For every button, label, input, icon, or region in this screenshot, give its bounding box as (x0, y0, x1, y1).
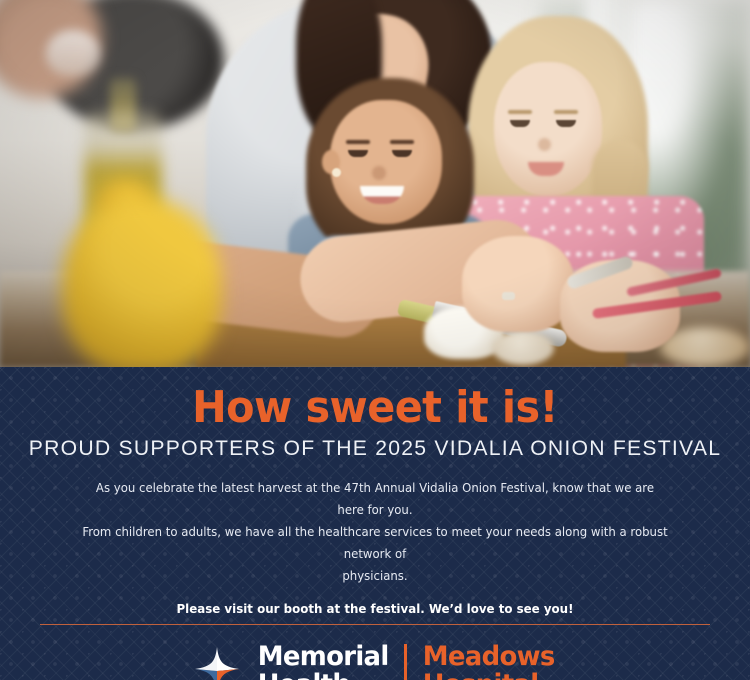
divider-rule (40, 624, 710, 625)
headline: How sweet it is! (23, 367, 728, 431)
logo-divider-bar (404, 644, 407, 680)
body-line: From children to adults, we have all the… (82, 521, 668, 565)
logo-wordmark-group: Memorial Health Meadows Hospital (255, 643, 558, 680)
call-to-action-text: Please visit our booth at the festival. … (23, 601, 728, 616)
logo-primary-wordmark: Memorial Health (258, 643, 389, 680)
body-copy: As you celebrate the latest harvest at t… (82, 477, 668, 587)
message-panel: How sweet it is! PROUD SUPPORTERS OF THE… (0, 367, 750, 680)
subheadline: PROUD SUPPORTERS OF THE 2025 VIDALIA ONI… (6, 436, 745, 461)
photo-vignette (0, 0, 750, 367)
logo-primary-line-2: Health (258, 669, 350, 680)
body-line: physicians. (82, 565, 668, 587)
kitchen-family-photo (0, 0, 750, 367)
logo-primary-line-1: Memorial (258, 641, 389, 672)
memorial-health-advertisement: How sweet it is! PROUD SUPPORTERS OF THE… (0, 0, 750, 680)
four-pointed-star-icon (192, 645, 242, 680)
body-line: As you celebrate the latest harvest at t… (82, 477, 668, 521)
logo-secondary-line-1: Meadows (423, 641, 555, 672)
logo-secondary-wordmark: Meadows Hospital (423, 643, 555, 680)
logo-secondary-line-2: Hospital (423, 669, 539, 680)
logo-lockup: Memorial Health Meadows Hospital (0, 643, 750, 680)
